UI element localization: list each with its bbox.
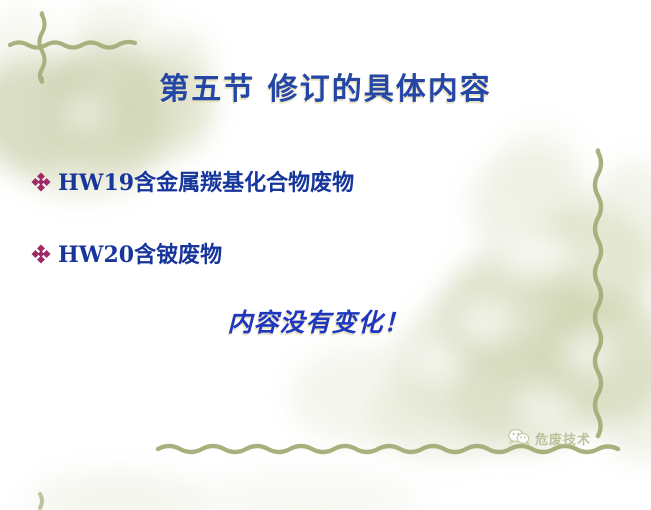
bamboo-accent-decoration bbox=[33, 492, 47, 510]
floret-diamond-bullet-icon bbox=[30, 243, 52, 265]
list-item: HW20含铍废物 bbox=[30, 235, 550, 271]
list-item-label: HW20含铍废物 bbox=[58, 237, 222, 269]
watermark: 危废技术 bbox=[508, 428, 591, 449]
bullet-list: HW19含金属羰基化合物废物 HW20含铍废物 bbox=[30, 163, 550, 307]
presentation-slide: 第五节 修订的具体内容 HW19含金属羰基化合物废物 bbox=[0, 0, 651, 510]
list-item-label: HW19含金属羰基化合物废物 bbox=[58, 165, 354, 197]
floret-diamond-bullet-icon bbox=[30, 171, 52, 193]
list-item: HW19含金属羰基化合物废物 bbox=[30, 163, 550, 199]
watermark-label: 危废技术 bbox=[535, 429, 591, 448]
wechat-icon bbox=[508, 428, 530, 449]
emphasis-text: 内容没有变化！ bbox=[0, 303, 651, 339]
slide-title: 第五节 修订的具体内容 bbox=[0, 64, 651, 108]
